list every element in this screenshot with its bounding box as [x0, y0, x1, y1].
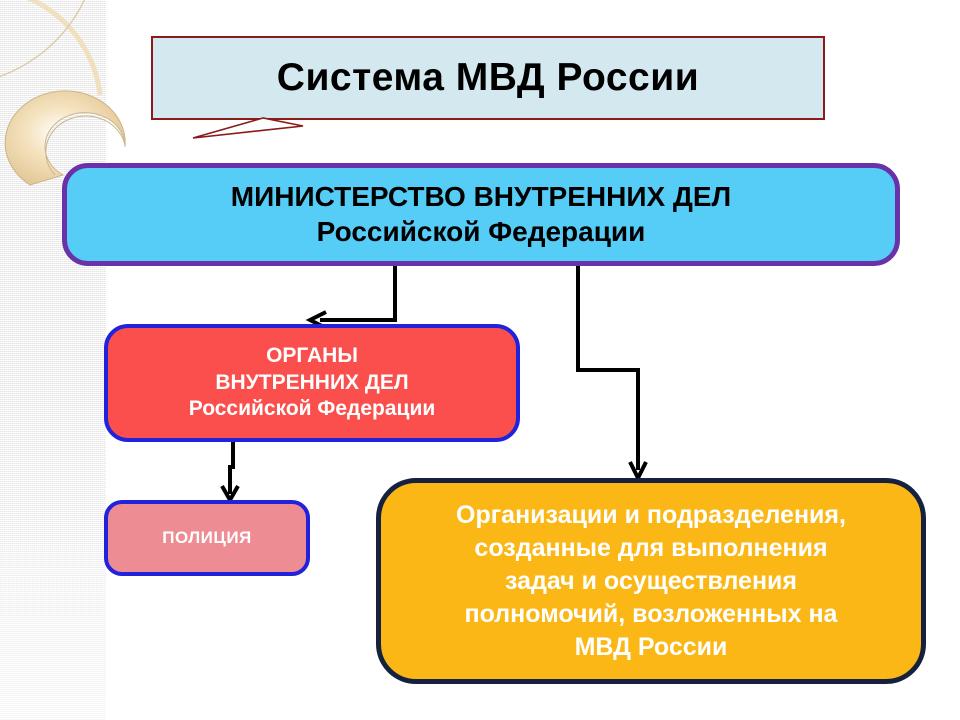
page-title: Система МВД России: [277, 56, 699, 100]
band-fade-overlay: [0, 0, 106, 720]
node-ministry-of-internal-affairs[interactable]: МИНИСТЕРСТВО ВНУТРЕННИХ ДЕЛ Российской Ф…: [62, 163, 900, 266]
callout-tail: [185, 114, 305, 144]
node-ministry-line-2: Российской Федерации: [77, 215, 885, 249]
node-organizations-line-3: задач и осуществления: [391, 565, 911, 598]
slide-canvas: Система МВД России МИНИСТЕРСТВО ВНУТРЕНН…: [0, 0, 960, 720]
node-internal-affairs-bodies[interactable]: ОРГАНЫ ВНУТРЕННИХ ДЕЛ Российской Федерац…: [104, 324, 520, 442]
node-organizations-line-5: МВД России: [391, 631, 911, 664]
connector-internal-affairs-to-police: [222, 442, 238, 500]
node-organizations-text: Организации и подразделения, созданные д…: [381, 499, 921, 664]
connector-ministry-to-internal-affairs: [310, 266, 395, 328]
node-internal-affairs-text: ОРГАНЫ ВНУТРЕННИХ ДЕЛ Российской Федерац…: [108, 343, 516, 424]
node-internal-affairs-line-3: Российской Федерации: [118, 396, 506, 423]
node-organizations-line-1: Организации и подразделения,: [391, 499, 911, 532]
node-police[interactable]: ПОЛИЦИЯ: [104, 500, 310, 576]
node-internal-affairs-line-1: ОРГАНЫ: [118, 343, 506, 370]
node-internal-affairs-line-2: ВНУТРЕННИХ ДЕЛ: [118, 370, 506, 397]
node-ministry-line-1: МИНИСТЕРСТВО ВНУТРЕННИХ ДЕЛ: [77, 180, 885, 214]
node-ministry-text: МИНИСТЕРСТВО ВНУТРЕННИХ ДЕЛ Российской Ф…: [67, 180, 895, 248]
connector-ministry-to-organizations: [578, 266, 646, 478]
node-organizations-line-4: полномочий, возложенных на: [391, 598, 911, 631]
slide-title-box: Система МВД России: [151, 36, 825, 120]
node-police-label: ПОЛИЦИЯ: [108, 528, 306, 548]
node-organizations-and-subdivisions[interactable]: Организации и подразделения, созданные д…: [376, 478, 926, 684]
node-organizations-line-2: созданные для выполнения: [391, 532, 911, 565]
